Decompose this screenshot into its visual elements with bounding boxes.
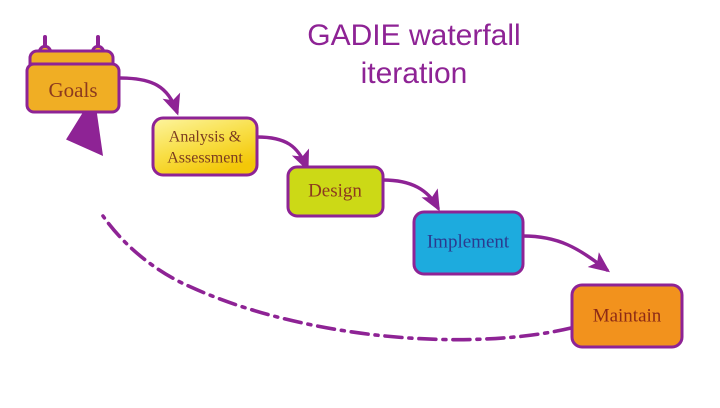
goals-label: Goals: [49, 78, 98, 102]
maintain-label: Maintain: [593, 305, 662, 326]
node-goals[interactable]: Goals: [27, 37, 119, 112]
implement-label: Implement: [427, 231, 510, 252]
node-maintain[interactable]: Maintain: [572, 285, 682, 347]
calendar-header-strip: [30, 51, 113, 64]
gadie-waterfall-diagram: GADIE waterfall iteration: [0, 0, 720, 408]
title-line-2: iteration: [361, 57, 468, 90]
node-design[interactable]: Design: [288, 167, 383, 216]
arrow-goals-to-analysis: [120, 78, 177, 112]
diagram-canvas: GADIE waterfall iteration: [0, 0, 720, 408]
node-analysis-assessment[interactable]: Analysis & Assessment: [153, 118, 257, 175]
title-line-1: GADIE waterfall: [307, 19, 520, 52]
analysis-label-line-1: Analysis &: [169, 129, 242, 146]
analysis-label-line-2: Assessment: [167, 150, 243, 167]
arrow-design-to-implement: [383, 180, 438, 208]
design-label: Design: [308, 180, 362, 201]
node-implement[interactable]: Implement: [414, 212, 523, 274]
arrow-analysis-to-design: [257, 137, 307, 168]
arrow-implement-to-maintain: [523, 236, 607, 270]
diagram-title: GADIE waterfall iteration: [307, 19, 520, 90]
